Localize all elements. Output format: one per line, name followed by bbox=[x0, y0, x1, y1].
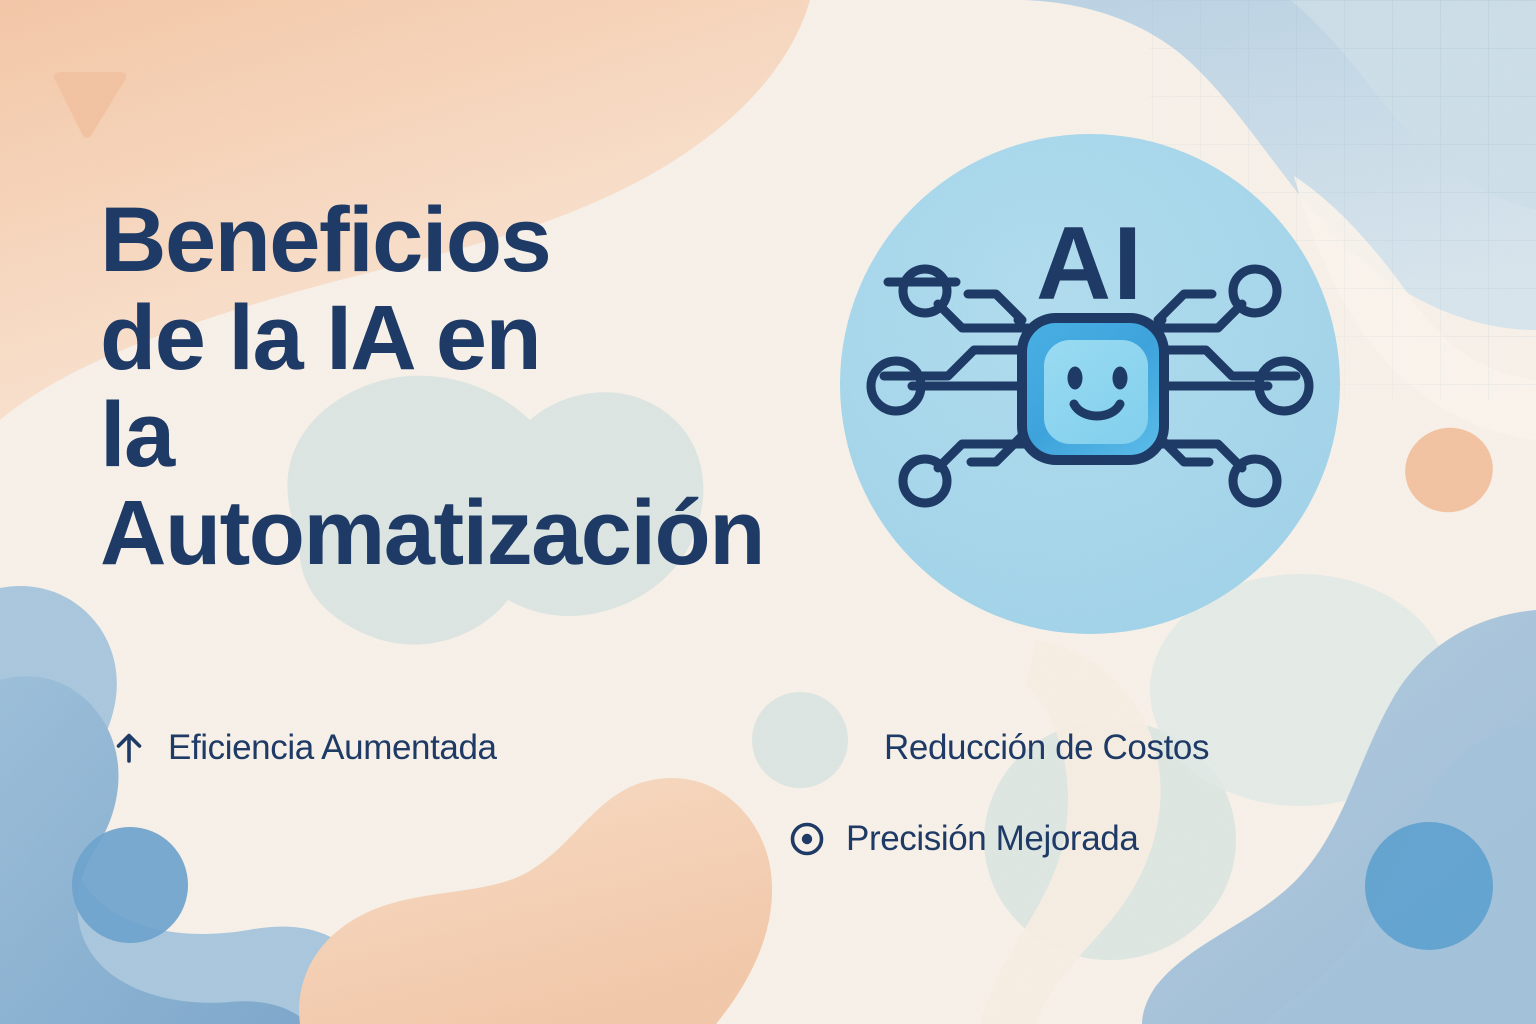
chip-inner-square bbox=[1044, 340, 1148, 444]
ai-chip-graphic: AI bbox=[828, 112, 1358, 657]
benefit-label-costos: Reducción de Costos bbox=[884, 728, 1209, 768]
benefit-item-eficiencia: Eficiencia Aumentada bbox=[108, 727, 497, 769]
benefit-item-precision: Precisión Mejorada bbox=[786, 818, 1138, 860]
benefit-label-precision: Precisión Mejorada bbox=[846, 819, 1138, 859]
arrow-up-icon bbox=[108, 727, 150, 769]
benefit-item-costos: Reducción de Costos bbox=[866, 727, 1209, 769]
poster-canvas: Beneficios de la IA en la Automatización… bbox=[0, 0, 1536, 1024]
chip-eye-left bbox=[1068, 367, 1083, 390]
chip-eye-right bbox=[1113, 367, 1128, 390]
ai-badge-text: AI bbox=[1036, 206, 1144, 322]
benefit-label-eficiencia: Eficiencia Aumentada bbox=[168, 728, 497, 768]
ai-chip-illustration: AI bbox=[828, 112, 1358, 657]
target-icon bbox=[786, 818, 828, 860]
